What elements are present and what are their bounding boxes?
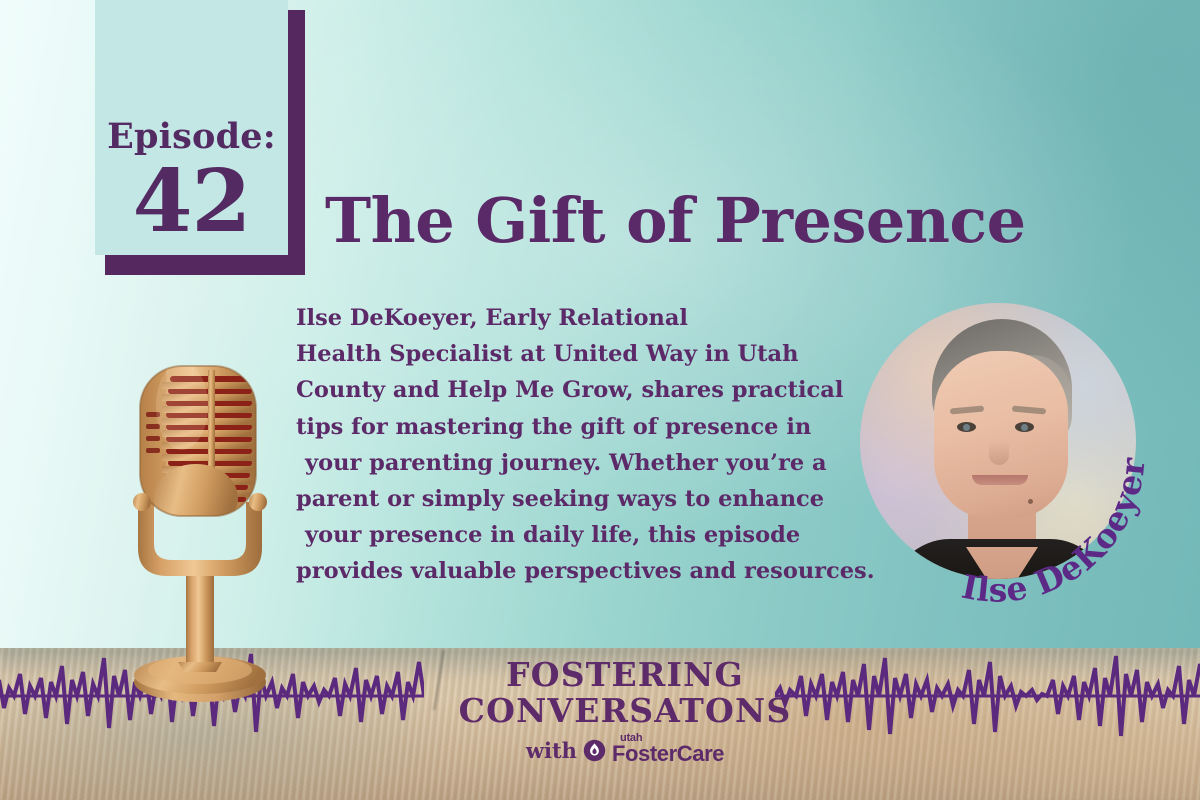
fostercare-logo-text: utah FosterCare: [612, 737, 724, 765]
description-line: Health Specialist at United Way in Utah: [296, 336, 896, 372]
description-line: provides valuable perspectives and resou…: [296, 553, 896, 589]
brand-line-fostering: FOSTERING: [470, 658, 780, 693]
retro-microphone-icon: [112, 352, 288, 712]
guest-name-text: Ilse DeKoeyer: [959, 456, 1153, 610]
with-label: with: [526, 738, 577, 763]
logo-name-text: FosterCare: [612, 741, 724, 766]
episode-number: 42: [133, 162, 251, 241]
episode-label: Episode:: [107, 119, 276, 154]
description-line: parent or simply seeking ways to enhance: [296, 481, 896, 517]
episode-description: Ilse DeKoeyer, Early Relational Health S…: [296, 300, 896, 590]
brand-line-conversations: CONVERSAT ONS: [470, 693, 780, 730]
brand-conversat-text: CONVERSAT: [459, 693, 705, 730]
brand-attribution: with utah FosterCare: [470, 737, 780, 765]
guest-name-curved: Ilse DeKoeyer: [840, 288, 1170, 618]
description-line: your presence in daily life, this episod…: [296, 517, 896, 553]
episode-badge-box: Episode: 42: [95, 0, 288, 255]
brand-ons-text: ONS: [705, 693, 791, 730]
waveform-right: [775, 636, 1200, 756]
description-line: tips for mastering the gift of presence …: [296, 409, 896, 445]
episode-badge: Episode: 42: [95, 0, 305, 275]
logo-utah-text: utah: [620, 733, 642, 744]
page-title: The Gift of Presence: [325, 184, 1026, 257]
podcast-brand: FOSTERING CONVERSAT ONS with: [470, 658, 780, 765]
flame-logo-icon: [583, 739, 606, 762]
description-line: County and Help Me Grow, shares practica…: [296, 372, 896, 408]
description-line: Ilse DeKoeyer, Early Relational: [296, 300, 896, 336]
episode-graphic-canvas: Episode: 42 The Gift of Presence Ilse De…: [0, 0, 1200, 800]
description-line: your parenting journey. Whether you’re a: [296, 445, 896, 481]
